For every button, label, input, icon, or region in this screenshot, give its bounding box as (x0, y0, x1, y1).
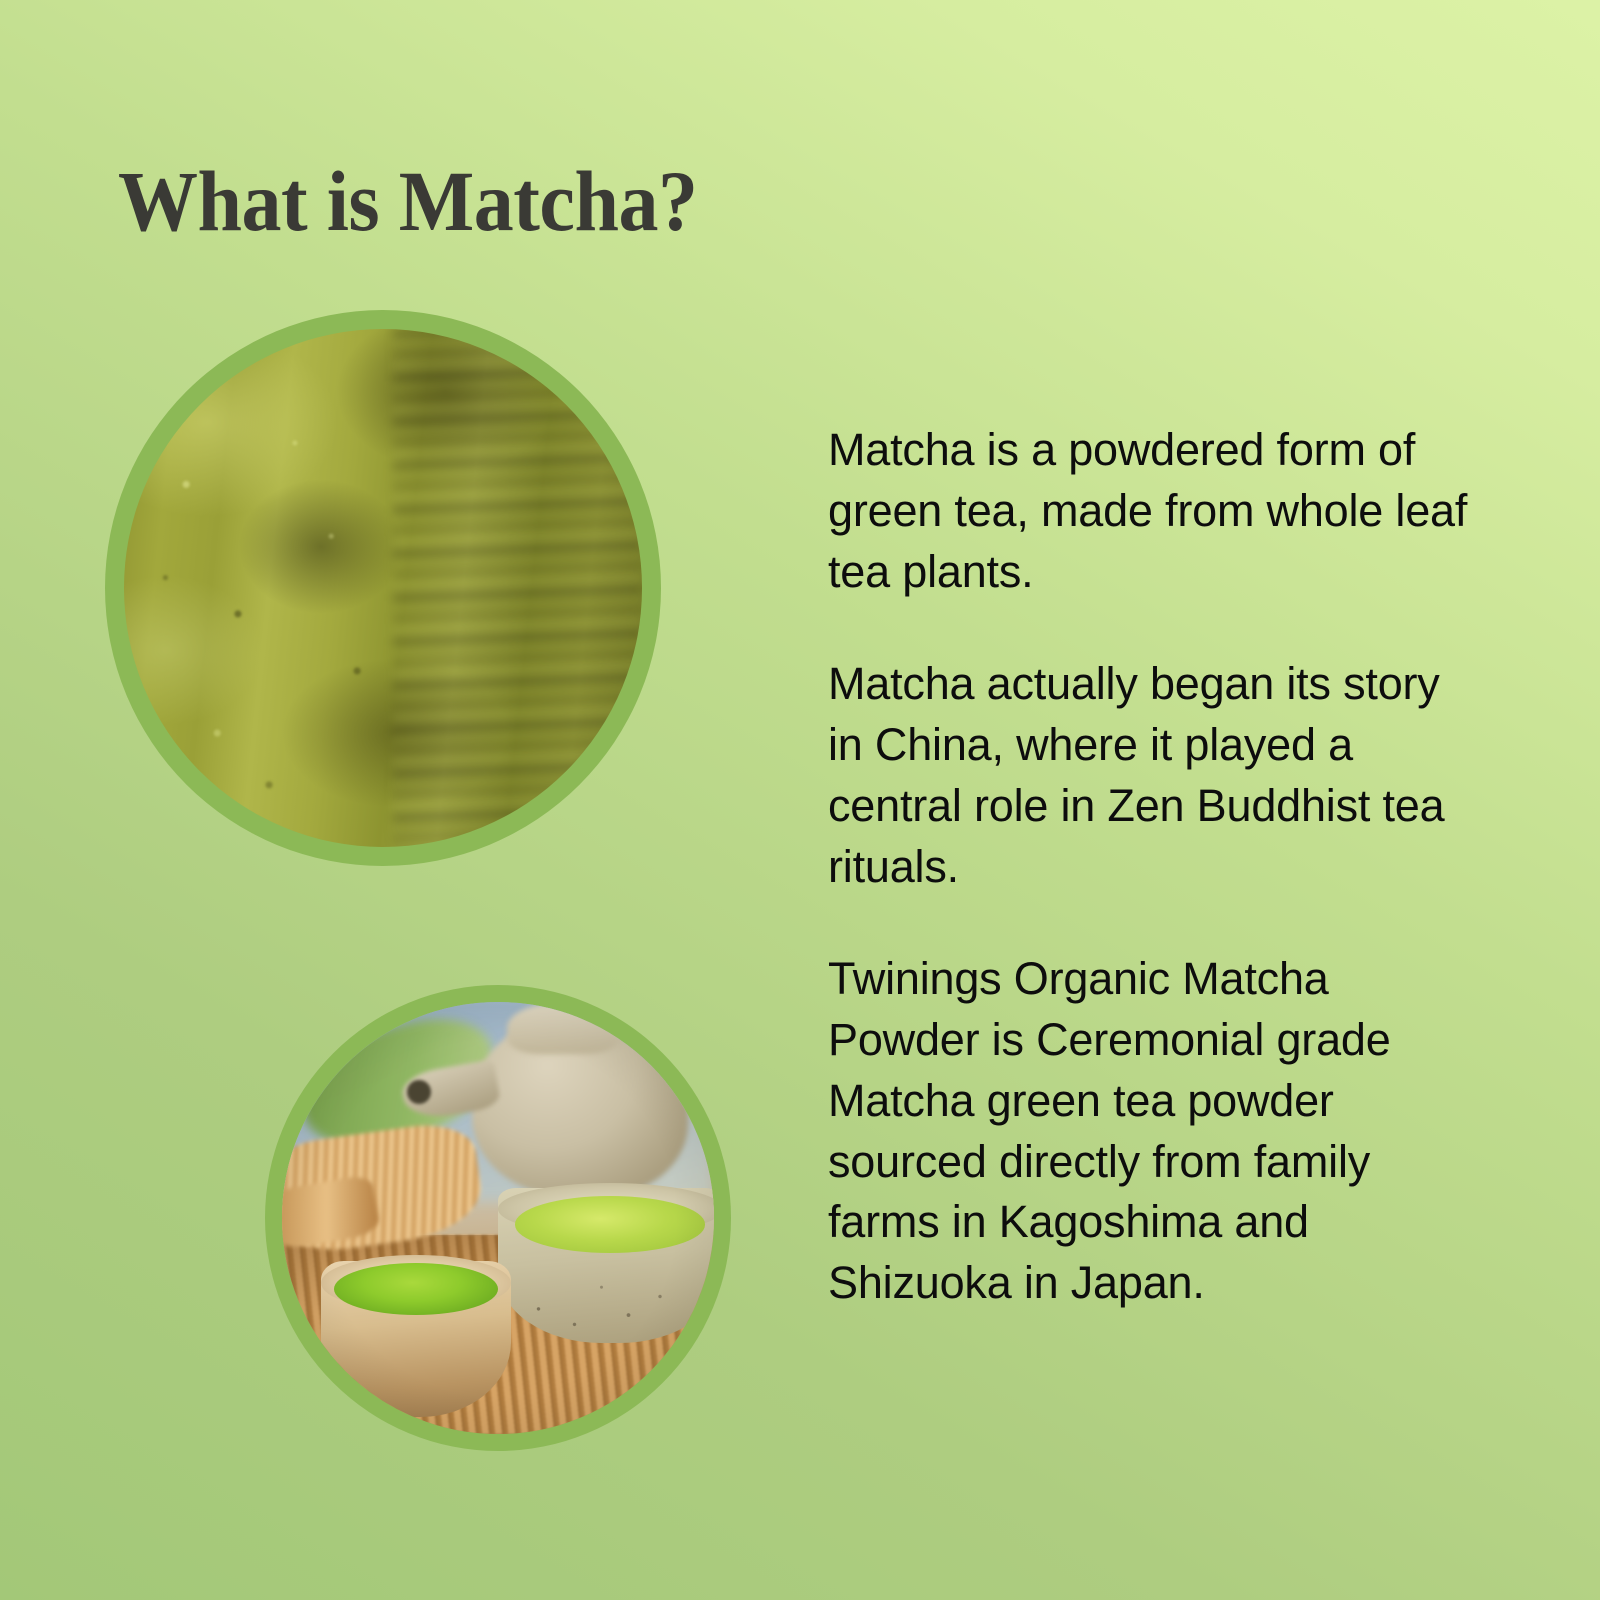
paragraph-1: Matcha is a powdered form of green tea, … (828, 420, 1476, 602)
photo-vignette (282, 1002, 714, 1434)
matcha-ceremony-image (265, 985, 731, 1451)
infographic-poster: What is Matcha? (0, 0, 1600, 1600)
powder-motion-blur-streaks (393, 329, 642, 847)
page-title: What is Matcha? (118, 156, 698, 246)
matcha-powder-photo (124, 329, 642, 847)
matcha-powder-image (105, 310, 661, 866)
paragraph-2: Matcha actually began its story in China… (828, 654, 1476, 897)
body-copy: Matcha is a powdered form of green tea, … (828, 420, 1476, 1314)
paragraph-3: Twinings Organic Matcha Powder is Ceremo… (828, 949, 1476, 1314)
matcha-ceremony-photo (282, 1002, 714, 1434)
